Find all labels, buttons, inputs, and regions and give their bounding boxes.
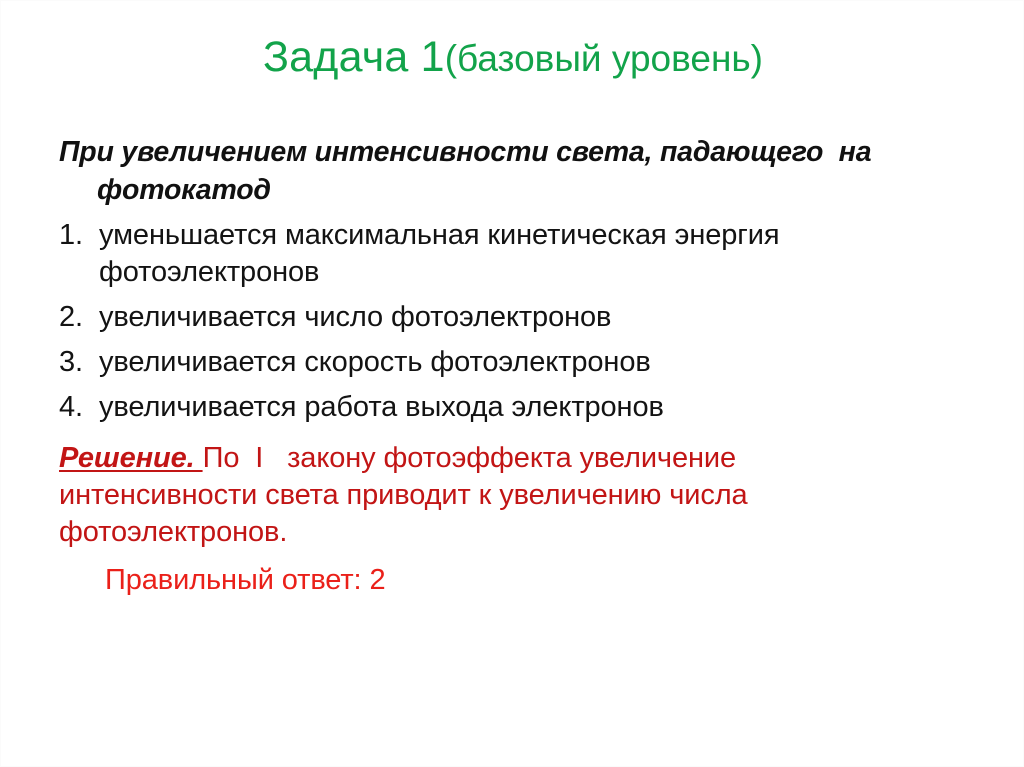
question-prompt: При увеличением интенсивности света, пад… (59, 134, 937, 210)
correct-answer: Правильный ответ: 2 (59, 563, 959, 598)
list-item-label: увеличивается скорость фотоэлектронов (99, 346, 651, 378)
page-title-sub: (базовый уровень) (445, 38, 763, 79)
list-item-number: 2. (59, 299, 93, 337)
list-item-number: 1. (59, 217, 93, 255)
list-item-label: увеличивается работа выхода электронов (99, 391, 664, 423)
list-item-number: 4. (59, 389, 93, 427)
list-item-number: 3. (59, 344, 93, 382)
answer-options-list: 1.уменьшается максимальная кинетическая … (59, 217, 959, 426)
list-item[interactable]: 1.уменьшается максимальная кинетическая … (59, 217, 899, 292)
slide-body: При увеличением интенсивности света, пад… (59, 134, 959, 597)
page-title-main: Задача 1 (263, 33, 445, 81)
list-item[interactable]: 2.увеличивается число фотоэлектронов (59, 299, 899, 337)
list-item-label: увеличивается число фотоэлектронов (99, 301, 611, 333)
list-item[interactable]: 3.увеличивается скорость фотоэлектронов (59, 344, 899, 382)
page-title: Задача 1(базовый уровень) (1, 35, 1024, 80)
list-item-label: уменьшается максимальная кинетическая эн… (99, 219, 779, 289)
solution-paragraph: Решение. По I закону фотоэффекта увеличе… (59, 440, 789, 551)
slide-canvas: Задача 1(базовый уровень) При увеличение… (0, 0, 1024, 767)
solution-label: Решение. (59, 442, 203, 474)
list-item[interactable]: 4.увеличивается работа выхода электронов (59, 389, 899, 427)
